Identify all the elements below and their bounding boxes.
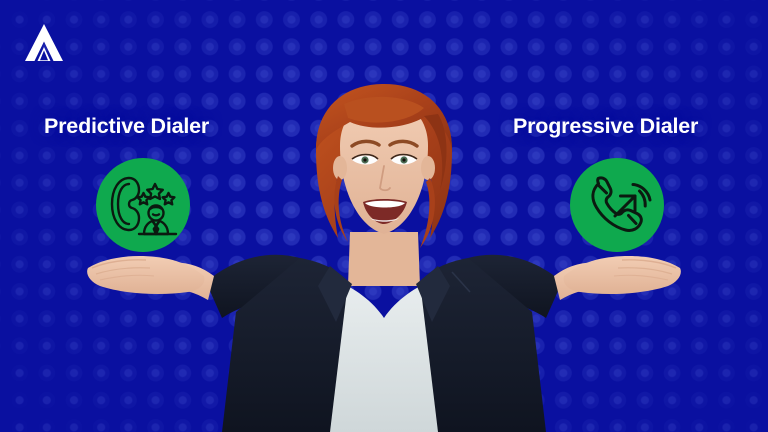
progressive-dialer-heading: Progressive Dialer: [513, 114, 698, 139]
predictive-dialer-heading: Predictive Dialer: [44, 114, 209, 139]
phone-handset-agent-stars-icon: [106, 172, 180, 238]
progressive-dialer-badge: [570, 158, 664, 252]
predictive-dialer-badge: [96, 158, 190, 252]
banner-canvas: Predictive Dialer Progressive Dialer: [0, 0, 768, 432]
phone-handset-outgoing-call-icon: [582, 171, 652, 239]
triangle-a-logo: [22, 22, 66, 64]
